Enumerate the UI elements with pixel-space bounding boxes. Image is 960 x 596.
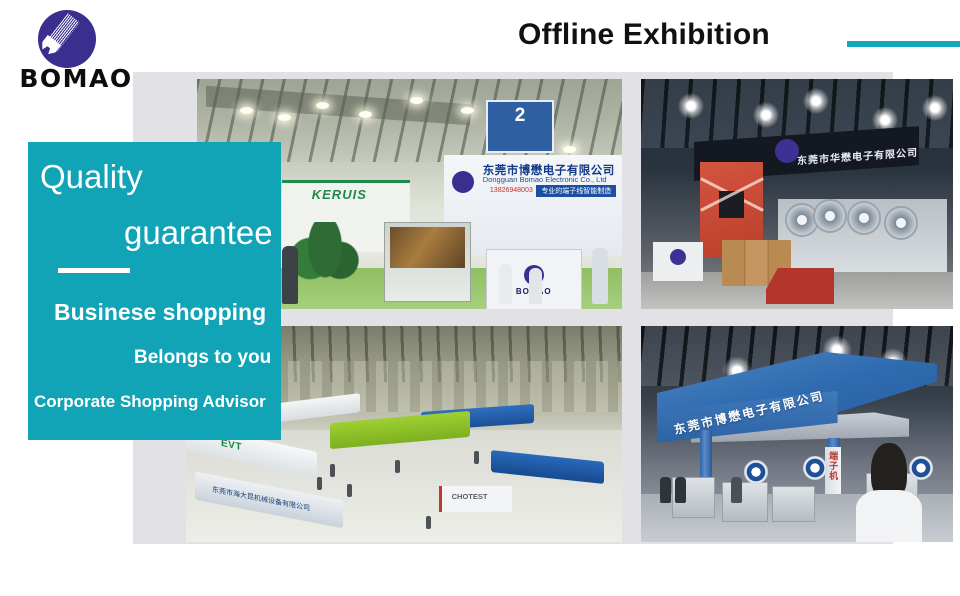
exhibit-machine (722, 482, 768, 523)
visitor-figure (499, 264, 512, 304)
visitor-figure (675, 477, 686, 503)
visitor-figure (592, 248, 608, 304)
banner-logo-icon (452, 171, 474, 193)
hall-number-sign: 2 (486, 100, 554, 153)
bomao-plug-circle-logo-icon (38, 10, 96, 68)
card-line-advisor: Corporate Shopping Advisor (34, 392, 266, 412)
neighbor-booth-label: KERUIS (312, 187, 397, 203)
ceiling-lamp (278, 114, 291, 121)
gallery-photo-bottom-right: 东莞市博懋电子有限公司 端子机 (641, 326, 953, 542)
reception-counter (653, 242, 703, 281)
ceiling-lamp (240, 107, 253, 114)
booth-logo-disc-icon (803, 456, 827, 480)
page-title: Offline Exhibition (518, 18, 770, 52)
brand-logo: BOMAO (14, 8, 138, 90)
visitor-figure (660, 477, 671, 503)
booth-label-chotest: CHOTEST (452, 492, 488, 501)
visitor-body (856, 490, 922, 542)
counter-logo-icon (670, 249, 686, 265)
wall-display-screen (719, 191, 744, 218)
pallet-truck (766, 268, 835, 305)
visitor-figure (474, 451, 479, 464)
visitor-figure (282, 246, 298, 304)
wire-reel (884, 206, 918, 240)
ceiling-lamp (316, 102, 329, 109)
card-line-business: Businese shopping (54, 299, 266, 326)
banner-company-en: Dongguan Bomao Electronic Co., Ltd (483, 175, 607, 184)
visitor-figure (347, 484, 352, 497)
decorative-plant (291, 222, 359, 309)
visitor-figure (529, 268, 542, 304)
exhibit-machine (384, 222, 471, 302)
visitor-figure (395, 460, 400, 473)
photo-scene: 东莞市华懋电子有限公司 (641, 79, 953, 309)
ceiling-light-flare (922, 95, 948, 121)
foreground-visitor (856, 443, 922, 542)
ceiling-lamp (563, 146, 576, 153)
visitor-figure (330, 464, 335, 477)
slide-root: BOMAO Offline Exhibition 2 KERUIS 东莞市博懋电… (0, 0, 960, 596)
visitor-figure (317, 477, 322, 490)
ceiling-lamp (461, 107, 474, 114)
card-line-quality: Quality (40, 158, 143, 196)
quality-guarantee-card: Quality guarantee Businese shopping Belo… (28, 142, 281, 440)
bomao-circle-logo-icon (775, 139, 799, 163)
wire-reel (847, 201, 881, 235)
visitor-figure (426, 516, 431, 529)
title-accent-rule-icon (847, 41, 960, 47)
white-divider-rule-icon (58, 268, 130, 273)
pillar-label-cn: 端子机 (827, 451, 840, 481)
card-line-guarantee: guarantee (124, 214, 273, 252)
gallery-photo-top-right: 东莞市华懋电子有限公司 (641, 79, 953, 309)
ceiling-lamp (359, 111, 372, 118)
banner-phone: 13826948003 (490, 187, 533, 194)
booth-logo-disc-icon (744, 460, 768, 484)
visitor-figure (731, 477, 742, 503)
banner-tagline: 专业的端子线智能制造 (536, 185, 616, 197)
machine-window (390, 227, 465, 268)
exhibit-machine (772, 486, 815, 523)
brand-name: BOMAO (14, 64, 138, 93)
photo-scene: 东莞市博懋电子有限公司 端子机 (641, 326, 953, 542)
booth-chotest: CHOTEST (439, 486, 512, 512)
wire-reel (813, 199, 847, 233)
card-line-belongs: Belongs to you (134, 347, 271, 369)
